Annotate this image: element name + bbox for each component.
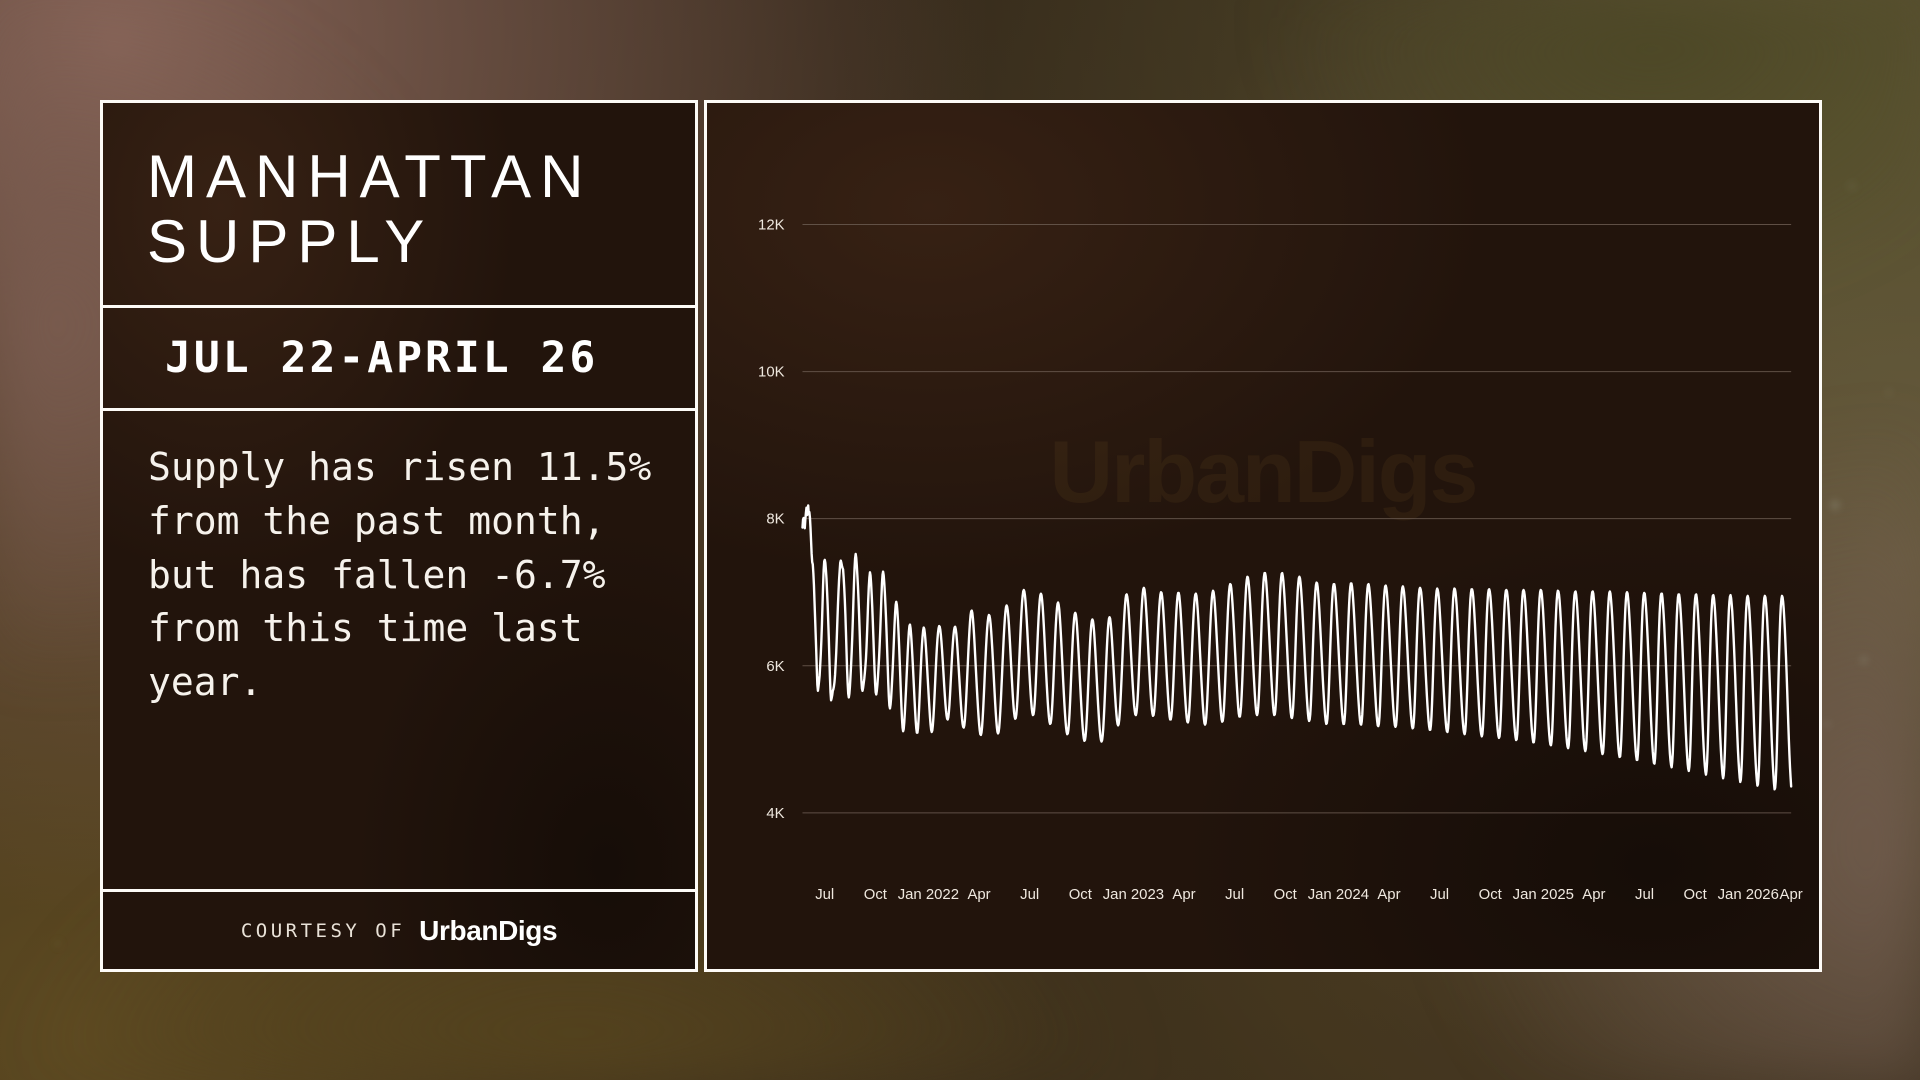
x-axis-tick-label: Oct (864, 886, 888, 903)
x-axis-tick-label: Apr (967, 886, 990, 903)
y-axis-tick-label: 10K (758, 364, 785, 381)
chart-panel: UrbanDigs 4K6K8K10K12KJulOctJan 2022AprJ… (704, 100, 1822, 972)
summary-text: Supply has risen 11.5% from the past mon… (148, 441, 655, 711)
x-axis-tick-label: Oct (1069, 886, 1093, 903)
y-axis-tick-label: 8K (766, 511, 784, 528)
x-axis-tick-label: Jul (1020, 886, 1039, 903)
poster-root: MANHATTAN SUPPLY JUL 22-APRIL 26 Supply … (0, 0, 1920, 1080)
x-axis-tick-label: Jul (815, 886, 834, 903)
page-title: MANHATTAN SUPPLY (147, 145, 651, 275)
x-axis-tick-label: Oct (1479, 886, 1503, 903)
x-axis-tick-label: Apr (1582, 886, 1605, 903)
date-range-label: JUL 22-APRIL 26 (165, 333, 598, 383)
x-axis-tick-label: Apr (1377, 886, 1400, 903)
y-axis-tick-label: 4K (766, 805, 784, 822)
y-axis-tick-label: 6K (766, 658, 784, 675)
x-axis-tick-label: Oct (1684, 886, 1708, 903)
urbandigs-logo: UrbanDigs (419, 915, 557, 947)
date-range-cell: JUL 22-APRIL 26 (103, 305, 695, 408)
supply-line-chart: 4K6K8K10K12KJulOctJan 2022AprJulOctJan 2… (707, 103, 1819, 969)
x-axis-tick-label: Apr (1172, 886, 1195, 903)
x-axis-tick-label: Jul (1635, 886, 1654, 903)
y-axis-tick-label: 12K (758, 216, 785, 233)
x-axis-tick-label: Jan 2024 (1308, 886, 1369, 903)
poster-card: MANHATTAN SUPPLY JUL 22-APRIL 26 Supply … (100, 100, 1822, 972)
x-axis-tick-label: Oct (1274, 886, 1298, 903)
headline-cell: MANHATTAN SUPPLY (103, 103, 695, 305)
chart-svg: 4K6K8K10K12KJulOctJan 2022AprJulOctJan 2… (707, 103, 1819, 969)
x-axis-tick-label: Jan 2026 (1718, 886, 1779, 903)
x-axis-tick-label: Jul (1430, 886, 1449, 903)
footer-cell: COURTESY OF UrbanDigs (103, 889, 695, 969)
chart-line-series (802, 505, 1791, 789)
x-axis-tick-label: Jan 2025 (1513, 886, 1574, 903)
x-axis-tick-label: Jan 2023 (1103, 886, 1164, 903)
info-panel: MANHATTAN SUPPLY JUL 22-APRIL 26 Supply … (100, 100, 698, 972)
summary-cell: Supply has risen 11.5% from the past mon… (103, 408, 695, 889)
x-axis-tick-label: Apr (1780, 886, 1803, 903)
x-axis-tick-label: Jan 2022 (898, 886, 959, 903)
x-axis-tick-label: Jul (1225, 886, 1244, 903)
courtesy-label: COURTESY OF (241, 920, 405, 942)
